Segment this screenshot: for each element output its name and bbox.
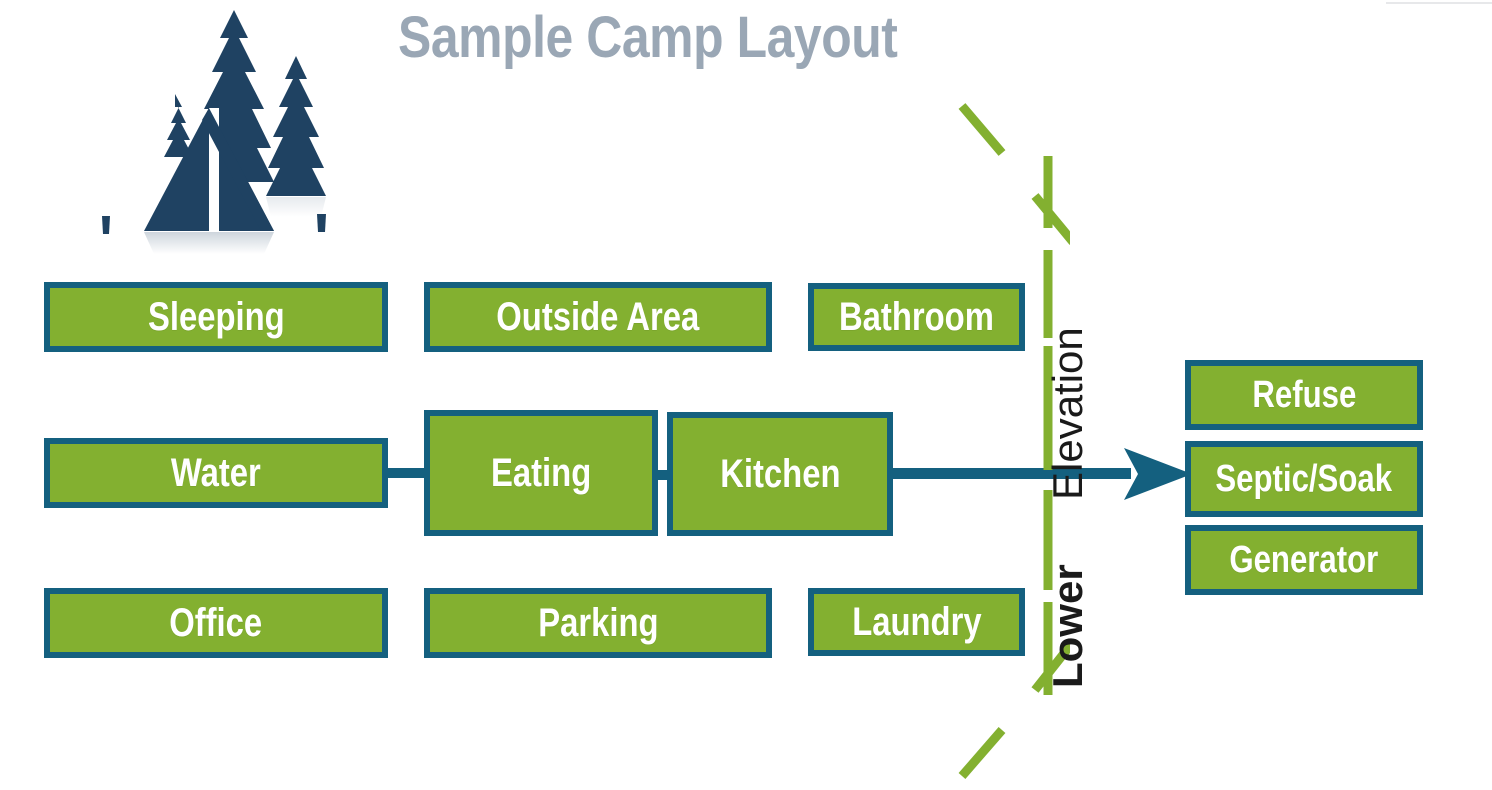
node-eating[interactable]: Eating	[424, 410, 658, 536]
node-sleeping-label: Sleeping	[148, 295, 285, 340]
flow-arrow-head-icon	[1122, 442, 1194, 506]
diagram-canvas: Sample Camp Layout Sleeping Outside Area…	[0, 0, 1492, 785]
node-outside-area[interactable]: Outside Area	[424, 282, 772, 352]
node-eating-label: Eating	[491, 451, 591, 496]
node-water[interactable]: Water	[44, 438, 388, 508]
node-parking[interactable]: Parking	[424, 588, 772, 658]
top-right-hairline	[1386, 2, 1492, 4]
node-septic-soak-label: Septic/Soak	[1216, 458, 1393, 501]
node-kitchen[interactable]: Kitchen	[667, 412, 893, 536]
node-septic-soak[interactable]: Septic/Soak	[1185, 441, 1423, 517]
elevation-label: Elevation	[1044, 327, 1092, 500]
connector-water-eating	[388, 468, 424, 478]
node-refuse[interactable]: Refuse	[1185, 360, 1423, 430]
node-parking-label: Parking	[538, 601, 658, 646]
camp-tent-pines-logo	[78, 2, 344, 260]
node-generator[interactable]: Generator	[1185, 525, 1423, 595]
node-sleeping[interactable]: Sleeping	[44, 282, 388, 352]
node-refuse-label: Refuse	[1252, 374, 1356, 417]
node-water-label: Water	[171, 451, 261, 496]
lower-label: Lower	[1044, 564, 1092, 688]
node-generator-label: Generator	[1230, 539, 1379, 582]
page-title: Sample Camp Layout	[398, 8, 897, 69]
node-kitchen-label: Kitchen	[720, 452, 840, 497]
node-office-label: Office	[170, 601, 263, 646]
node-office[interactable]: Office	[44, 588, 388, 658]
node-outside-area-label: Outside Area	[497, 295, 700, 340]
